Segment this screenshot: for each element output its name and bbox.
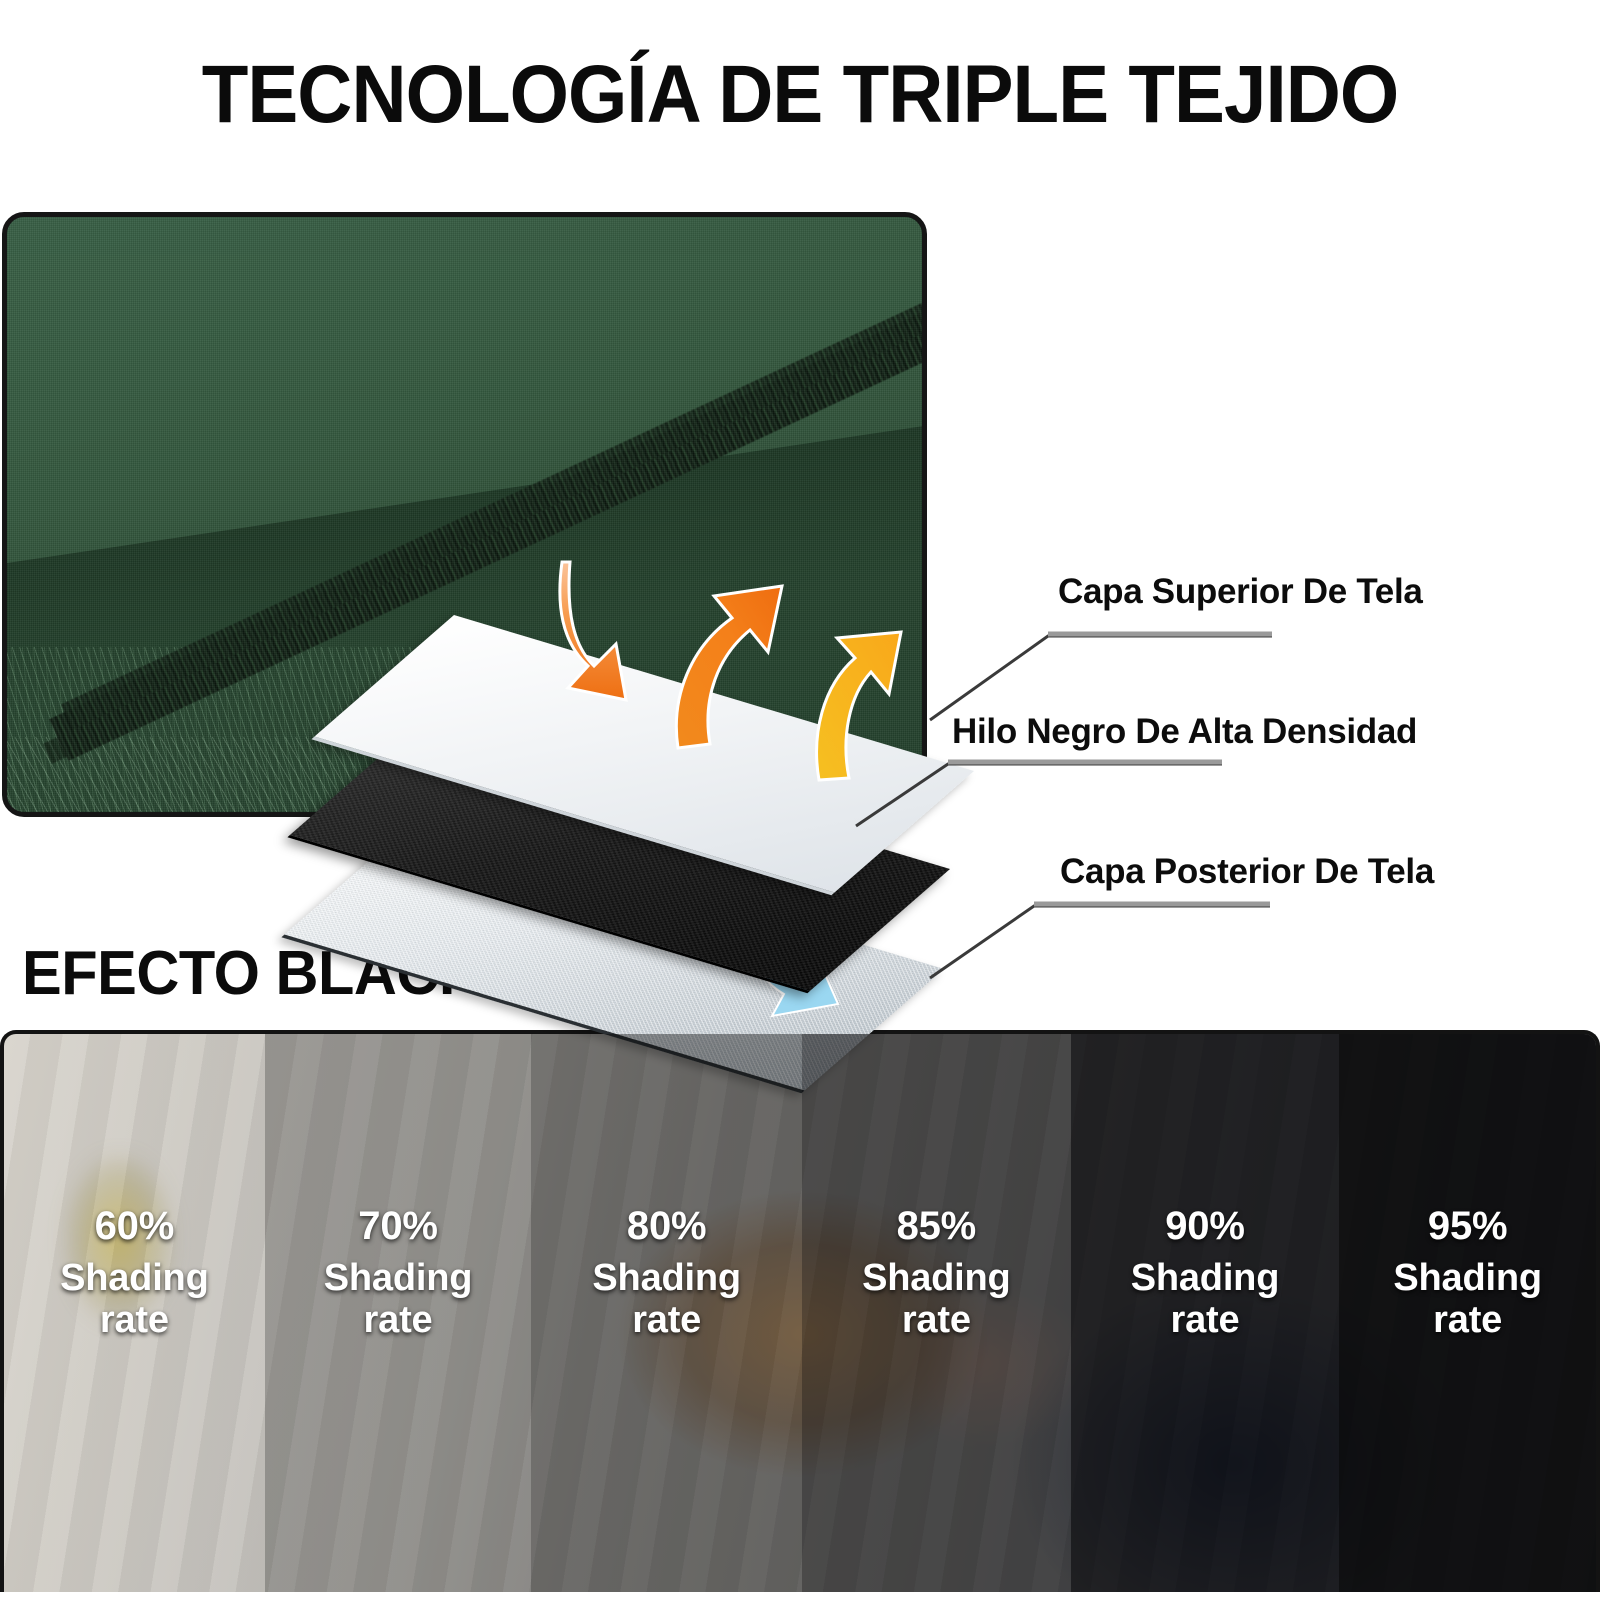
shading-percent-value: 70% (324, 1204, 473, 1249)
leader-line-bottom-layer (930, 882, 1310, 982)
shading-rate-line1: Shading (1393, 1257, 1542, 1300)
blackout-comparison-strip: 60%Shadingrate70%Shadingrate80%Shadingra… (0, 1030, 1600, 1592)
shading-panel-label: 95%Shadingrate (1393, 1204, 1542, 1342)
shading-panel-label: 80%Shadingrate (592, 1204, 741, 1342)
callout-label-top-layer: Capa Superior De Tela (1058, 572, 1423, 612)
shading-panel-label: 60%Shadingrate (60, 1204, 209, 1342)
shading-panel-70: 70%Shadingrate (265, 1034, 532, 1592)
shading-panels-container: 60%Shadingrate70%Shadingrate80%Shadingra… (4, 1034, 1596, 1592)
shading-percent-value: 85% (862, 1204, 1011, 1249)
shading-percent-value: 90% (1131, 1204, 1280, 1249)
shading-panel-label: 85%Shadingrate (862, 1204, 1011, 1342)
shading-rate-line2: rate (60, 1299, 209, 1342)
shading-percent-value: 60% (60, 1204, 209, 1249)
incoming-light-arrow (560, 562, 680, 712)
shading-panel-label: 90%Shadingrate (1131, 1204, 1280, 1342)
shading-rate-line2: rate (324, 1299, 473, 1342)
shading-panel-95: 95%Shadingrate (1339, 1034, 1596, 1592)
shading-panel-60: 60%Shadingrate (4, 1034, 265, 1592)
shading-percent-value: 95% (1393, 1204, 1542, 1249)
shading-panel-label: 70%Shadingrate (324, 1204, 473, 1342)
leader-line-top-layer (930, 612, 1310, 722)
reflected-light-arrow (670, 580, 820, 755)
shading-rate-line1: Shading (60, 1257, 209, 1300)
shading-panel-85: 85%Shadingrate (802, 1034, 1071, 1592)
shading-percent-value: 80% (592, 1204, 741, 1249)
shading-rate-line1: Shading (592, 1257, 741, 1300)
shading-rate-line2: rate (1131, 1299, 1280, 1342)
fabric-loose-threads-secondary (2, 737, 357, 817)
shading-rate-line2: rate (1393, 1299, 1542, 1342)
shading-rate-line1: Shading (324, 1257, 473, 1300)
shading-rate-line1: Shading (1131, 1257, 1280, 1300)
shading-panel-90: 90%Shadingrate (1071, 1034, 1340, 1592)
shading-rate-line2: rate (862, 1299, 1011, 1342)
shading-rate-line2: rate (592, 1299, 741, 1342)
leader-line-middle-layer (856, 742, 1256, 832)
shading-panel-80: 80%Shadingrate (531, 1034, 802, 1592)
page-title: TECNOLOGÍA DE TRIPLE TEJIDO (56, 48, 1544, 142)
shading-rate-line1: Shading (862, 1257, 1011, 1300)
